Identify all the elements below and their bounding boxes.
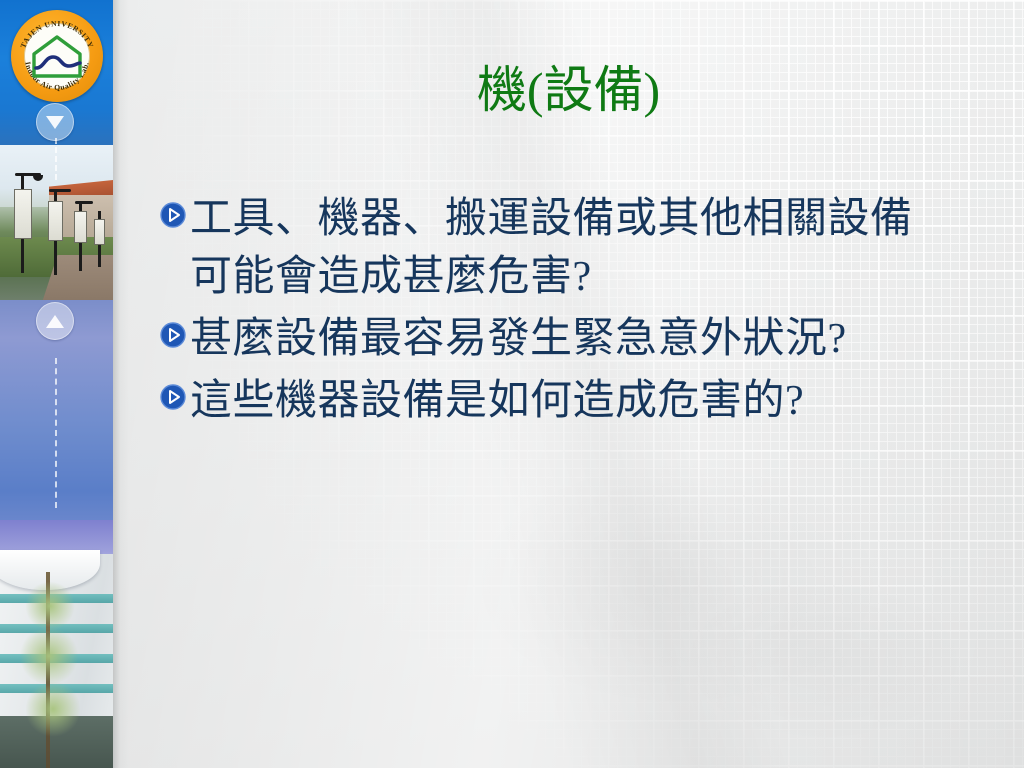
lamp-banner xyxy=(74,211,87,243)
page-title: 機(設備) xyxy=(113,60,1024,120)
lamp-banner xyxy=(14,189,32,239)
photo-tree-foliage xyxy=(24,582,76,630)
list-item: 這些機器設備是如何造成危害的? xyxy=(160,372,960,430)
down-arrow-nav-icon[interactable] xyxy=(36,103,74,141)
play-triangle-bullet-icon xyxy=(160,384,186,410)
lamp-banner xyxy=(48,201,63,241)
photo-tree-foliage xyxy=(18,628,80,684)
lamp-banner xyxy=(94,219,105,245)
list-item-label: 這些機器設備是如何造成危害的? xyxy=(190,372,804,430)
bullet-list: 工具、機器、搬運設備或其他相關設備可能會造成甚麼危害? 甚麼設備最容易發生緊急意… xyxy=(160,190,960,434)
lamp-arm xyxy=(75,201,93,204)
up-arrow-nav-icon[interactable] xyxy=(36,302,74,340)
list-item-label: 工具、機器、搬運設備或其他相關設備可能會造成甚麼危害? xyxy=(190,190,930,306)
presentation-slide: TAJEN UNIVERSITY Indoor Air Quality Lab. xyxy=(0,0,1024,768)
play-triangle-bullet-icon xyxy=(160,322,186,348)
slide-sidebar: TAJEN UNIVERSITY Indoor Air Quality Lab. xyxy=(0,0,113,768)
house-with-wave-icon xyxy=(30,32,84,80)
triangle-down-glyph xyxy=(46,116,64,129)
nav-dashed-connector xyxy=(55,138,59,180)
list-item: 工具、機器、搬運設備或其他相關設備可能會造成甚麼危害? xyxy=(160,190,960,306)
lamp-arm xyxy=(49,189,71,192)
list-item: 甚麼設備最容易發生緊急意外狀況? xyxy=(160,310,960,368)
play-triangle-bullet-icon xyxy=(160,202,186,228)
campus-building-photo xyxy=(0,520,113,768)
nav-dashed-connector xyxy=(55,358,59,508)
triangle-up-glyph xyxy=(46,315,64,328)
tajen-university-logo: TAJEN UNIVERSITY Indoor Air Quality Lab. xyxy=(11,10,103,102)
list-item-label: 甚麼設備最容易發生緊急意外狀況? xyxy=(190,310,847,368)
photo-tree-foliage xyxy=(26,680,80,738)
